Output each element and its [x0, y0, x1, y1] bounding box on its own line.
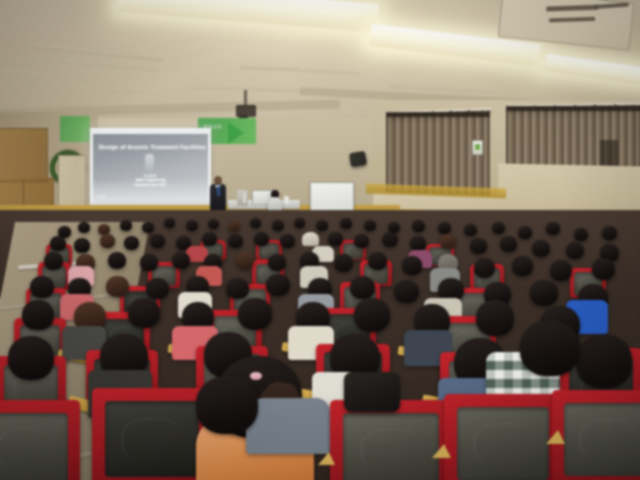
audience-member [574, 228, 588, 241]
audience-member [530, 280, 558, 306]
slide-logo: KIST [97, 195, 106, 199]
window-gap [506, 106, 640, 111]
audience-member [238, 298, 272, 330]
audience-member [202, 232, 217, 246]
wall-speaker [349, 151, 367, 167]
slide-title: Design of Arsenic Treatment Facilities [99, 145, 203, 151]
audience-member [316, 220, 328, 231]
audience-member [438, 222, 451, 234]
auditorium-seat[interactable] [92, 388, 212, 480]
audience-torso [246, 398, 330, 454]
window-gap [386, 112, 490, 117]
audience-member [228, 221, 240, 232]
slide-subtitle: K. W. R. Water Engineering Research Inst… [93, 174, 208, 187]
audience-member [412, 220, 425, 232]
audience-member [532, 240, 550, 257]
audience-member [368, 252, 387, 270]
slide-subtitle-line3: Research Inst. KIST [93, 183, 208, 187]
audience-member [520, 320, 580, 376]
audience-member [592, 258, 615, 280]
seat-back-pad [457, 407, 549, 480]
audience-member [124, 236, 139, 250]
audience-member [108, 252, 126, 269]
auditorium-seat[interactable] [330, 400, 452, 480]
audience-member [280, 234, 295, 248]
audience-member [566, 242, 584, 259]
seat-back-pad [105, 401, 199, 477]
audience-member [272, 220, 284, 231]
audience-member [328, 232, 343, 246]
audience-member [474, 258, 495, 278]
desk-item [284, 196, 289, 204]
audience-member [74, 238, 90, 253]
audience-member [44, 252, 63, 270]
audience-member [266, 274, 290, 296]
audience-member [128, 298, 160, 328]
audience-member [100, 234, 115, 248]
audience-member [106, 276, 129, 297]
audience-member [546, 222, 560, 235]
audience-member [500, 236, 517, 252]
audience-member [186, 220, 198, 231]
audience-member [394, 280, 419, 303]
wall-panel [497, 163, 640, 215]
audience-member [22, 300, 54, 330]
audience-member [364, 220, 376, 231]
window-curtain [506, 105, 640, 169]
audience-member [226, 278, 249, 299]
audience-member-with-cap [302, 232, 319, 246]
standing-attendee [268, 190, 282, 212]
switch-toggle[interactable] [475, 144, 480, 150]
audience-member [334, 254, 353, 272]
audience-member [236, 252, 254, 269]
audience-member [294, 218, 305, 228]
window-gap [600, 140, 618, 168]
audience-member [268, 254, 286, 271]
presenter-tie [217, 186, 220, 196]
hair-tie [250, 372, 262, 380]
light-fixture-off [240, 66, 300, 70]
armrest-tip [546, 430, 565, 444]
audience-member [410, 236, 426, 251]
audience-member [602, 226, 617, 240]
auditorium-seat[interactable] [0, 400, 80, 480]
audience-member [354, 234, 369, 248]
seat-back-pad [564, 403, 640, 477]
auditorium-seat[interactable] [444, 394, 562, 480]
audience-member [196, 376, 258, 434]
wooden-cabinet[interactable] [0, 128, 48, 182]
audience-member [476, 300, 514, 336]
audience-member [30, 276, 54, 298]
audience-member [350, 276, 375, 299]
auditorium-seat[interactable] [552, 390, 640, 480]
audience-member [492, 222, 505, 234]
audience-member [470, 238, 487, 254]
projection-screen: Design of Arsenic Treatment Facilities K… [90, 128, 211, 214]
audience-member [120, 220, 132, 231]
slide-content: Design of Arsenic Treatment Facilities K… [93, 134, 208, 202]
audience-member [8, 336, 54, 380]
audience-member [440, 234, 456, 249]
audience-member [228, 234, 243, 248]
audience-member [402, 256, 422, 275]
handbag [344, 372, 400, 412]
armrest-tip [318, 452, 335, 465]
audience-member [550, 260, 572, 281]
audience-member [150, 234, 165, 248]
banner-arrow-icon [228, 122, 244, 144]
audience-member [142, 222, 154, 233]
audience-member [50, 236, 66, 251]
presenter [210, 176, 228, 212]
audience-member [340, 218, 352, 229]
light-switch[interactable] [472, 140, 483, 155]
slide-diagram [145, 154, 154, 176]
audience-member [354, 298, 390, 332]
audience-member [576, 334, 632, 388]
audience-member [464, 224, 477, 236]
audience-member [382, 232, 398, 247]
seat-back-pad [0, 413, 68, 480]
audience-member [146, 278, 169, 299]
audience-member [512, 256, 533, 276]
audience-member [518, 226, 532, 239]
audience-member [208, 219, 219, 229]
audience-member [172, 252, 190, 269]
audience-member [254, 232, 269, 246]
audience-member [140, 254, 158, 271]
seat-back-pad [343, 413, 438, 480]
armrest-tip [432, 444, 451, 458]
desk-item [243, 193, 246, 203]
audience-member [250, 218, 261, 228]
audience-member [78, 222, 90, 233]
lecture-hall-photo: 생명과학 Design of Arsenic Treatment Facil [0, 0, 640, 480]
audience-member [164, 218, 175, 228]
wall-banner [60, 116, 90, 142]
